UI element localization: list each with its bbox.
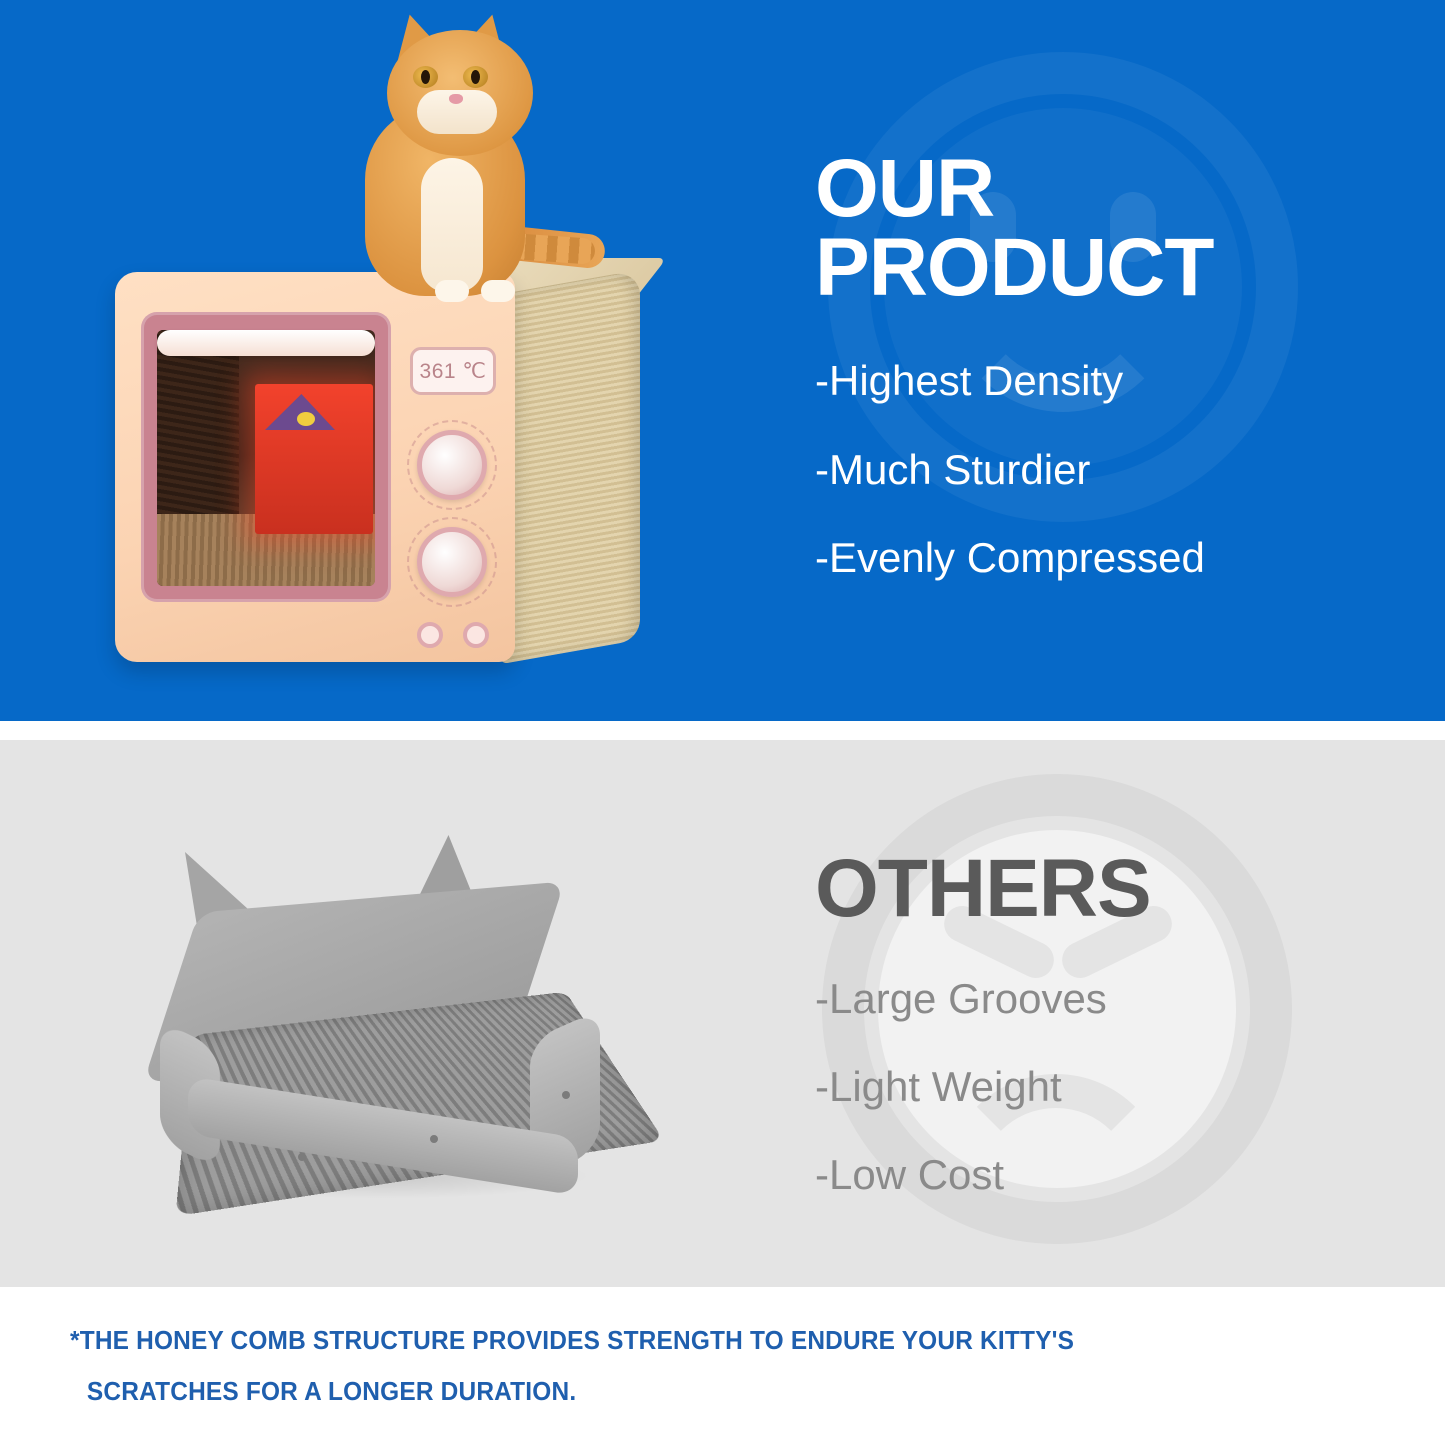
footer: *THE HONEY COMB STRUCTURE PROVIDES STREN…	[0, 1287, 1445, 1445]
our-product-photo: 361 ℃	[95, 0, 695, 700]
microwave-knob-lower[interactable]	[417, 527, 487, 597]
others-heading: OTHERS	[815, 850, 1375, 929]
feature-item: -Low Cost	[815, 1153, 1375, 1197]
our-product-feature-list: -Highest Density -Much Sturdier -Evenly …	[815, 359, 1375, 579]
footer-note: *THE HONEY COMB STRUCTURE PROVIDES STREN…	[70, 1315, 1123, 1416]
cat-nose	[449, 94, 463, 104]
scratcher-screw	[430, 1135, 438, 1143]
orange-cat-photo	[335, 8, 585, 298]
interior-yellow-dot	[297, 412, 315, 426]
feature-item: -Light Weight	[815, 1065, 1375, 1109]
microwave-knob-upper[interactable]	[417, 430, 487, 500]
panel-divider	[0, 721, 1445, 740]
microwave-temperature-display: 361 ℃	[410, 347, 496, 395]
heading-line-1: OUR	[815, 143, 994, 234]
feature-item: -Highest Density	[815, 359, 1375, 403]
microwave-button-left[interactable]	[417, 622, 443, 648]
feature-item: -Large Grooves	[815, 977, 1375, 1021]
microwave-button-right[interactable]	[463, 622, 489, 648]
cat-eye-left	[413, 66, 438, 88]
our-product-heading: OUR PRODUCT	[815, 150, 1375, 307]
feature-item: -Much Sturdier	[815, 448, 1375, 492]
scratcher-screw	[562, 1091, 570, 1099]
cat-chest	[421, 158, 483, 292]
interior-red-plate	[255, 384, 373, 534]
temperature-value: 361 ℃	[420, 359, 487, 384]
infographic-page: 361 ℃	[0, 0, 1445, 1445]
footer-note-line-1: *THE HONEY COMB STRUCTURE PROVIDES STREN…	[70, 1325, 1074, 1355]
our-product-panel: 361 ℃	[0, 0, 1445, 721]
our-product-text-column: OUR PRODUCT -Highest Density -Much Sturd…	[815, 150, 1375, 624]
cat-paw-left	[435, 280, 469, 302]
microwave-door-handle[interactable]	[157, 330, 375, 356]
others-panel: OTHERS -Large Grooves -Light Weight -Low…	[0, 740, 1445, 1287]
cat-eye-right	[463, 66, 488, 88]
microwave-side-face	[500, 270, 640, 665]
heading-line-2: PRODUCT	[815, 229, 1375, 308]
others-product-photo	[130, 835, 730, 1255]
feature-item: -Evenly Compressed	[815, 536, 1375, 580]
others-feature-list: -Large Grooves -Light Weight -Low Cost	[815, 977, 1375, 1197]
scratcher-screw	[298, 1153, 306, 1161]
microwave-interior	[157, 330, 375, 586]
others-text-column: OTHERS -Large Grooves -Light Weight -Low…	[815, 850, 1375, 1241]
footer-note-line-2: SCRATCHES FOR A LONGER DURATION.	[70, 1366, 1123, 1417]
cat-paw-right	[481, 280, 515, 302]
